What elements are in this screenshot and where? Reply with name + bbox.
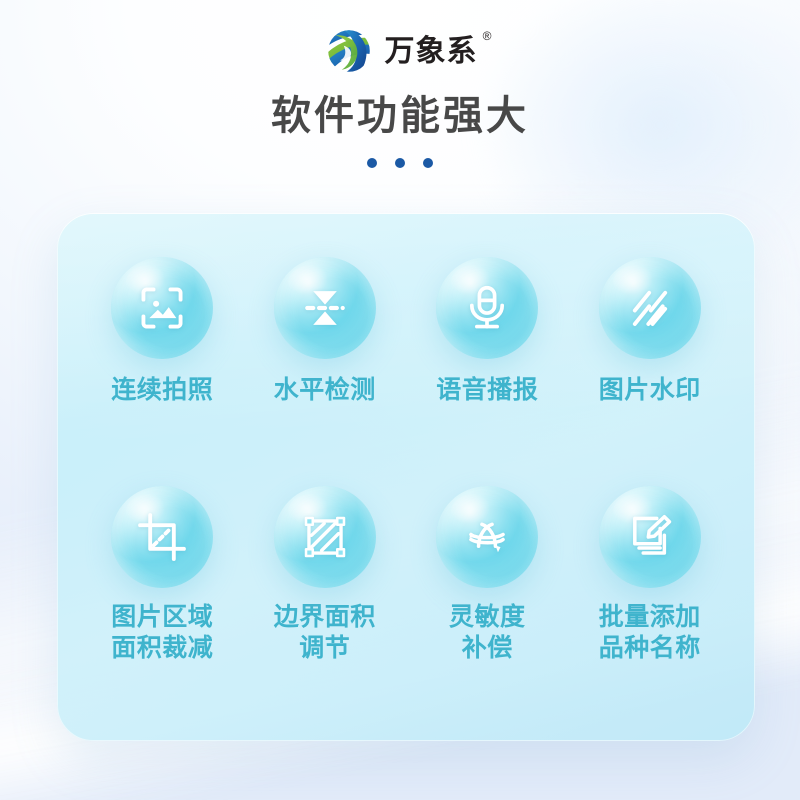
feature-batch-add-variety-name[interactable]: 批量添加 品种名称 bbox=[571, 486, 730, 713]
feature-label: 连续拍照 bbox=[111, 375, 213, 406]
feature-icon-bubble bbox=[599, 486, 701, 588]
feature-label: 图片水印 bbox=[599, 375, 701, 406]
feature-label: 灵敏度 补偿 bbox=[449, 602, 526, 663]
brand-lockup: 万象系 ® bbox=[0, 24, 800, 78]
globe-swirl-logo-icon bbox=[323, 25, 375, 77]
dot-2 bbox=[395, 158, 405, 168]
feature-continuous-photo[interactable]: 连续拍照 bbox=[83, 257, 242, 484]
microphone-icon bbox=[460, 281, 514, 335]
gyro-rotate-icon bbox=[460, 510, 514, 564]
feature-image-watermark[interactable]: 图片水印 bbox=[571, 257, 730, 484]
promo-page: 万象系 ® 软件功能强大 bbox=[0, 0, 800, 800]
registered-mark-icon: ® bbox=[483, 30, 493, 42]
feature-icon-bubble bbox=[436, 486, 538, 588]
feature-label: 边界面积 调节 bbox=[274, 602, 376, 663]
diagonal-stripes-icon bbox=[623, 281, 677, 335]
brand-name-text: 万象系 bbox=[385, 35, 478, 68]
feature-label: 图片区域 面积裁减 bbox=[111, 602, 213, 663]
feature-grid-card: 连续拍照 bbox=[57, 213, 755, 741]
feature-icon-bubble bbox=[111, 257, 213, 359]
feature-boundary-area-adjust[interactable]: 边界面积 调节 bbox=[246, 486, 405, 713]
brand-name: 万象系 ® bbox=[385, 35, 478, 67]
bounding-box-icon bbox=[298, 510, 352, 564]
feature-label: 水平检测 bbox=[274, 375, 376, 406]
decorative-dots bbox=[0, 158, 800, 168]
image-scan-icon bbox=[135, 281, 189, 335]
feature-label: 批量添加 品种名称 bbox=[599, 602, 701, 663]
feature-icon-bubble bbox=[111, 486, 213, 588]
feature-label: 语音播报 bbox=[436, 375, 538, 406]
dot-1 bbox=[367, 158, 377, 168]
feature-icon-bubble bbox=[274, 486, 376, 588]
feature-icon-bubble bbox=[599, 257, 701, 359]
feature-voice-broadcast[interactable]: 语音播报 bbox=[408, 257, 567, 484]
feature-icon-bubble bbox=[274, 257, 376, 359]
feature-icon-bubble bbox=[436, 257, 538, 359]
feature-image-area-crop[interactable]: 图片区域 面积裁减 bbox=[83, 486, 242, 713]
feature-level-detection[interactable]: 水平检测 bbox=[246, 257, 405, 484]
crop-diagonal-icon bbox=[135, 510, 189, 564]
feature-grid: 连续拍照 bbox=[57, 213, 755, 741]
document-edit-icon bbox=[623, 510, 677, 564]
page-title: 软件功能强大 bbox=[0, 94, 800, 138]
feature-sensitivity-compensation[interactable]: 灵敏度 补偿 bbox=[408, 486, 567, 713]
dot-3 bbox=[423, 158, 433, 168]
level-arrows-icon bbox=[298, 281, 352, 335]
page-header: 万象系 ® 软件功能强大 bbox=[0, 24, 800, 168]
